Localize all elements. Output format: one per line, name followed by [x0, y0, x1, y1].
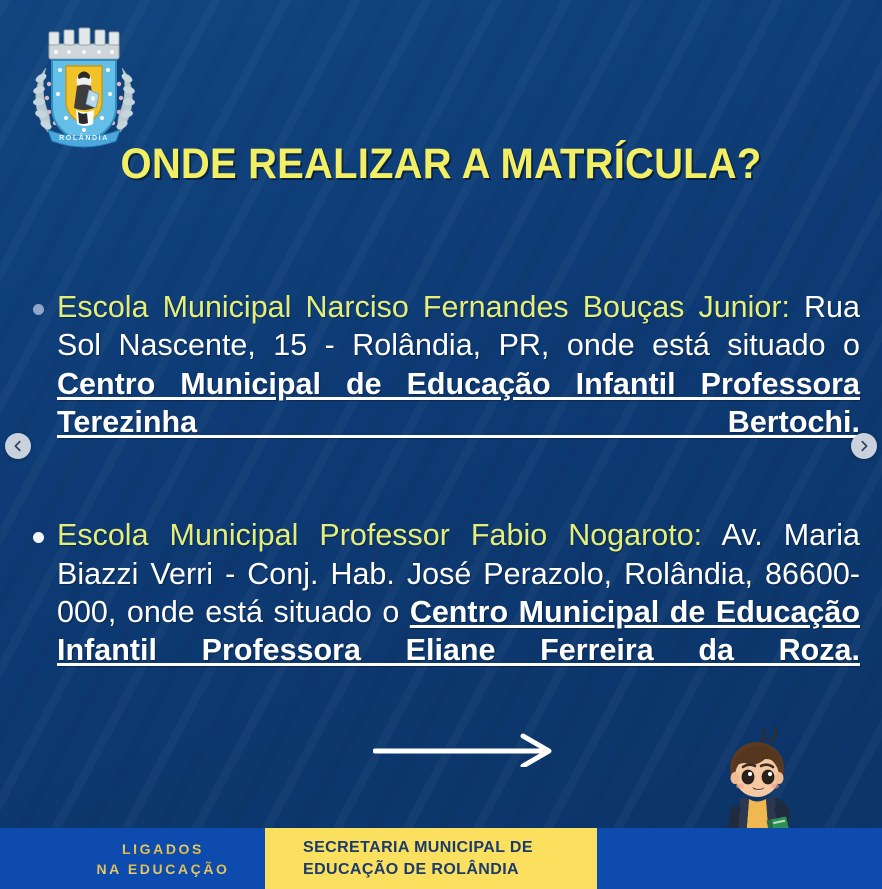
list-item: Escola Municipal Professor Fabio Nogarot…: [22, 516, 860, 708]
bullet-paragraph: Escola Municipal Professor Fabio Nogarot…: [57, 516, 860, 708]
footer-bar: LIGADOS NA EDUCAÇÃO SECRETARIA MUNICIPAL…: [0, 828, 882, 889]
footer-brand: LIGADOS NA EDUCAÇÃO: [58, 839, 268, 880]
carousel-prev-button[interactable]: [5, 433, 31, 459]
footer-secretariat-line1: SECRETARIA MUNICIPAL DE: [303, 837, 533, 859]
bullet-dot-icon: [33, 532, 44, 543]
list-item: Escola Municipal Narciso Fernandes Bouça…: [22, 288, 860, 480]
cmei-name: Centro Municipal de Educação Infantil Pr…: [57, 367, 860, 439]
chevron-right-icon: [857, 439, 871, 453]
school-name: Escola Municipal Professor Fabio Nogarot…: [57, 518, 702, 552]
footer-brand-line2: NA EDUCAÇÃO: [58, 859, 268, 879]
footer-brand-line1: LIGADOS: [58, 839, 268, 859]
bullet-list: Escola Municipal Narciso Fernandes Bouça…: [22, 288, 860, 744]
footer-secretariat-line2: EDUCAÇÃO DE ROLÂNDIA: [303, 859, 533, 881]
rolandia-coat-of-arms-icon: ROLÂNDIA: [22, 22, 146, 150]
chevron-left-icon: [11, 439, 25, 453]
arrow-right-icon: [373, 733, 555, 767]
bullet-dot-icon: [33, 304, 44, 315]
bullet-paragraph: Escola Municipal Narciso Fernandes Bouça…: [57, 288, 860, 480]
page-title: ONDE REALIZAR A MATRÍCULA?: [31, 140, 851, 189]
footer-secretariat-badge: SECRETARIA MUNICIPAL DE EDUCAÇÃO DE ROLÂ…: [265, 828, 597, 889]
school-name: Escola Municipal Narciso Fernandes Bouça…: [57, 290, 790, 324]
slide-canvas: ROLÂNDIA ONDE REALIZAR A MATRÍCULA? Esco…: [0, 0, 882, 889]
carousel-next-button[interactable]: [851, 433, 877, 459]
